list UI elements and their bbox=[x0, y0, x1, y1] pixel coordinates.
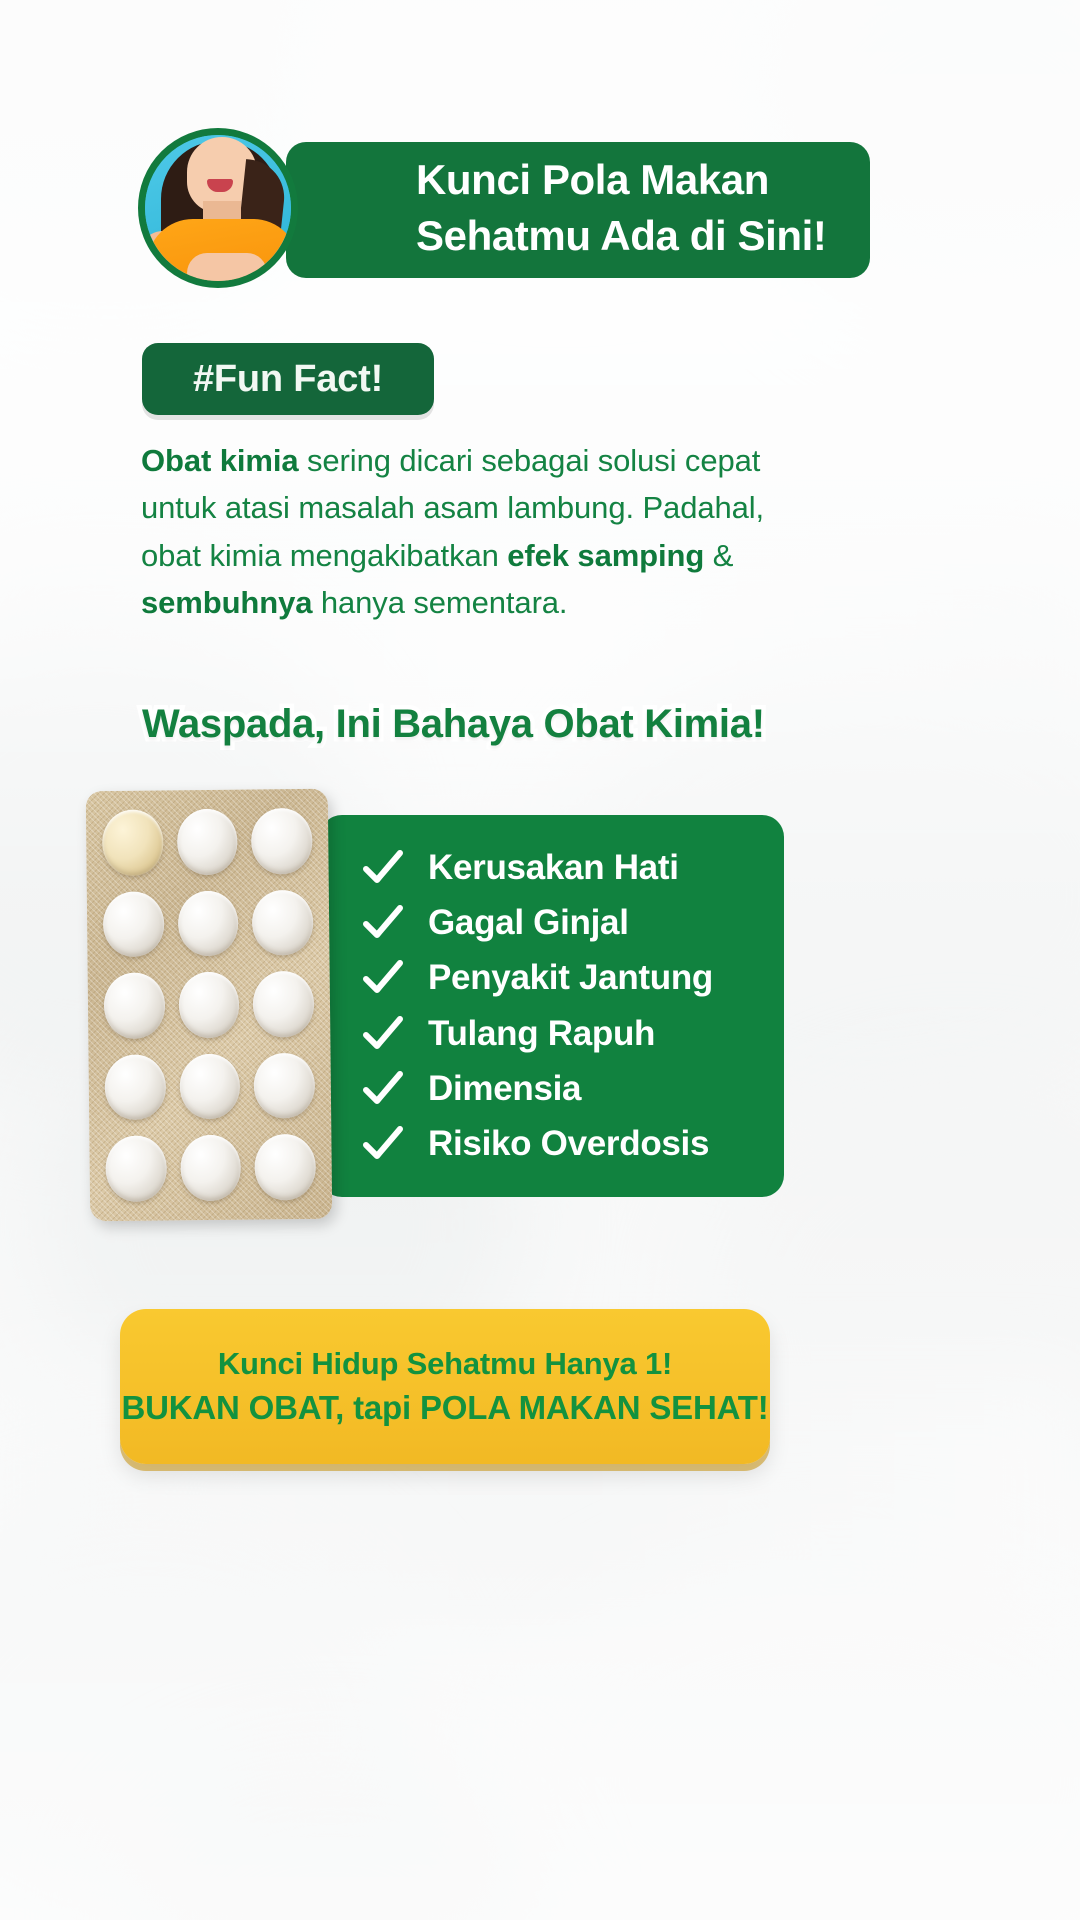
pill bbox=[102, 809, 163, 875]
pill bbox=[252, 890, 313, 956]
check-icon bbox=[362, 902, 404, 944]
blister-pill-grid bbox=[86, 789, 332, 1222]
pill bbox=[104, 973, 165, 1039]
header: Kunci Pola Makan Sehatmu Ada di Sini! bbox=[138, 128, 950, 288]
page-title: Kunci Pola Makan Sehatmu Ada di Sini! bbox=[416, 152, 826, 264]
danger-heading: Waspada, Ini Bahaya Obat Kimia! bbox=[142, 702, 942, 747]
paragraph-text-2: & bbox=[704, 538, 733, 573]
list-item: Tulang Rapuh bbox=[362, 1007, 784, 1060]
avatar-hands bbox=[187, 253, 267, 288]
danger-list-panel: Kerusakan Hati Gagal Ginjal Penyakit Jan… bbox=[320, 815, 784, 1197]
list-item-label: Penyakit Jantung bbox=[428, 958, 713, 998]
list-item-label: Gagal Ginjal bbox=[428, 903, 629, 943]
danger-section: Kerusakan Hati Gagal Ginjal Penyakit Jan… bbox=[88, 790, 788, 1220]
paragraph-text-3: hanya sementara. bbox=[312, 585, 567, 620]
pill bbox=[105, 1054, 166, 1120]
check-icon bbox=[362, 1013, 404, 1055]
pill bbox=[251, 808, 312, 874]
check-icon bbox=[362, 847, 404, 889]
pill-blister-pack bbox=[86, 789, 332, 1222]
list-item-label: Kerusakan Hati bbox=[428, 848, 679, 888]
check-icon bbox=[362, 1068, 404, 1110]
pill bbox=[180, 1135, 241, 1201]
list-item: Penyakit Jantung bbox=[362, 952, 784, 1005]
avatar bbox=[138, 128, 298, 288]
check-icon bbox=[362, 957, 404, 999]
pill bbox=[254, 1053, 315, 1119]
list-item-label: Tulang Rapuh bbox=[428, 1014, 655, 1054]
check-icon bbox=[362, 1123, 404, 1165]
cta-banner[interactable]: Kunci Hidup Sehatmu Hanya 1! BUKAN OBAT,… bbox=[120, 1309, 770, 1464]
cta-line-1: Kunci Hidup Sehatmu Hanya 1! bbox=[218, 1346, 672, 1382]
cta-line-2: BUKAN OBAT, tapi POLA MAKAN SEHAT! bbox=[121, 1389, 768, 1427]
pill bbox=[103, 891, 164, 957]
list-item: Gagal Ginjal bbox=[362, 896, 784, 949]
paragraph-bold-obat-kimia: Obat kimia bbox=[141, 443, 299, 478]
pill bbox=[105, 1136, 166, 1202]
pill bbox=[253, 971, 314, 1037]
list-item: Risiko Overdosis bbox=[362, 1118, 784, 1171]
list-item: Kerusakan Hati bbox=[362, 841, 784, 894]
fun-fact-badge-label: #Fun Fact! bbox=[193, 358, 383, 401]
paragraph-bold-sembuhnya: sembuhnya bbox=[141, 585, 312, 620]
pill bbox=[177, 809, 238, 875]
fun-fact-badge: #Fun Fact! bbox=[142, 343, 434, 415]
pill bbox=[177, 890, 238, 956]
list-item: Dimensia bbox=[362, 1062, 784, 1115]
fun-fact-paragraph: Obat kimia sering dicari sebagai solusi … bbox=[141, 437, 791, 627]
paragraph-bold-efek-samping: efek samping bbox=[507, 538, 704, 573]
list-item-label: Dimensia bbox=[428, 1069, 581, 1109]
pill bbox=[179, 1053, 240, 1119]
list-item-label: Risiko Overdosis bbox=[428, 1124, 709, 1164]
pill bbox=[255, 1134, 316, 1200]
header-title-bar: Kunci Pola Makan Sehatmu Ada di Sini! bbox=[286, 142, 870, 278]
pill bbox=[178, 972, 239, 1038]
